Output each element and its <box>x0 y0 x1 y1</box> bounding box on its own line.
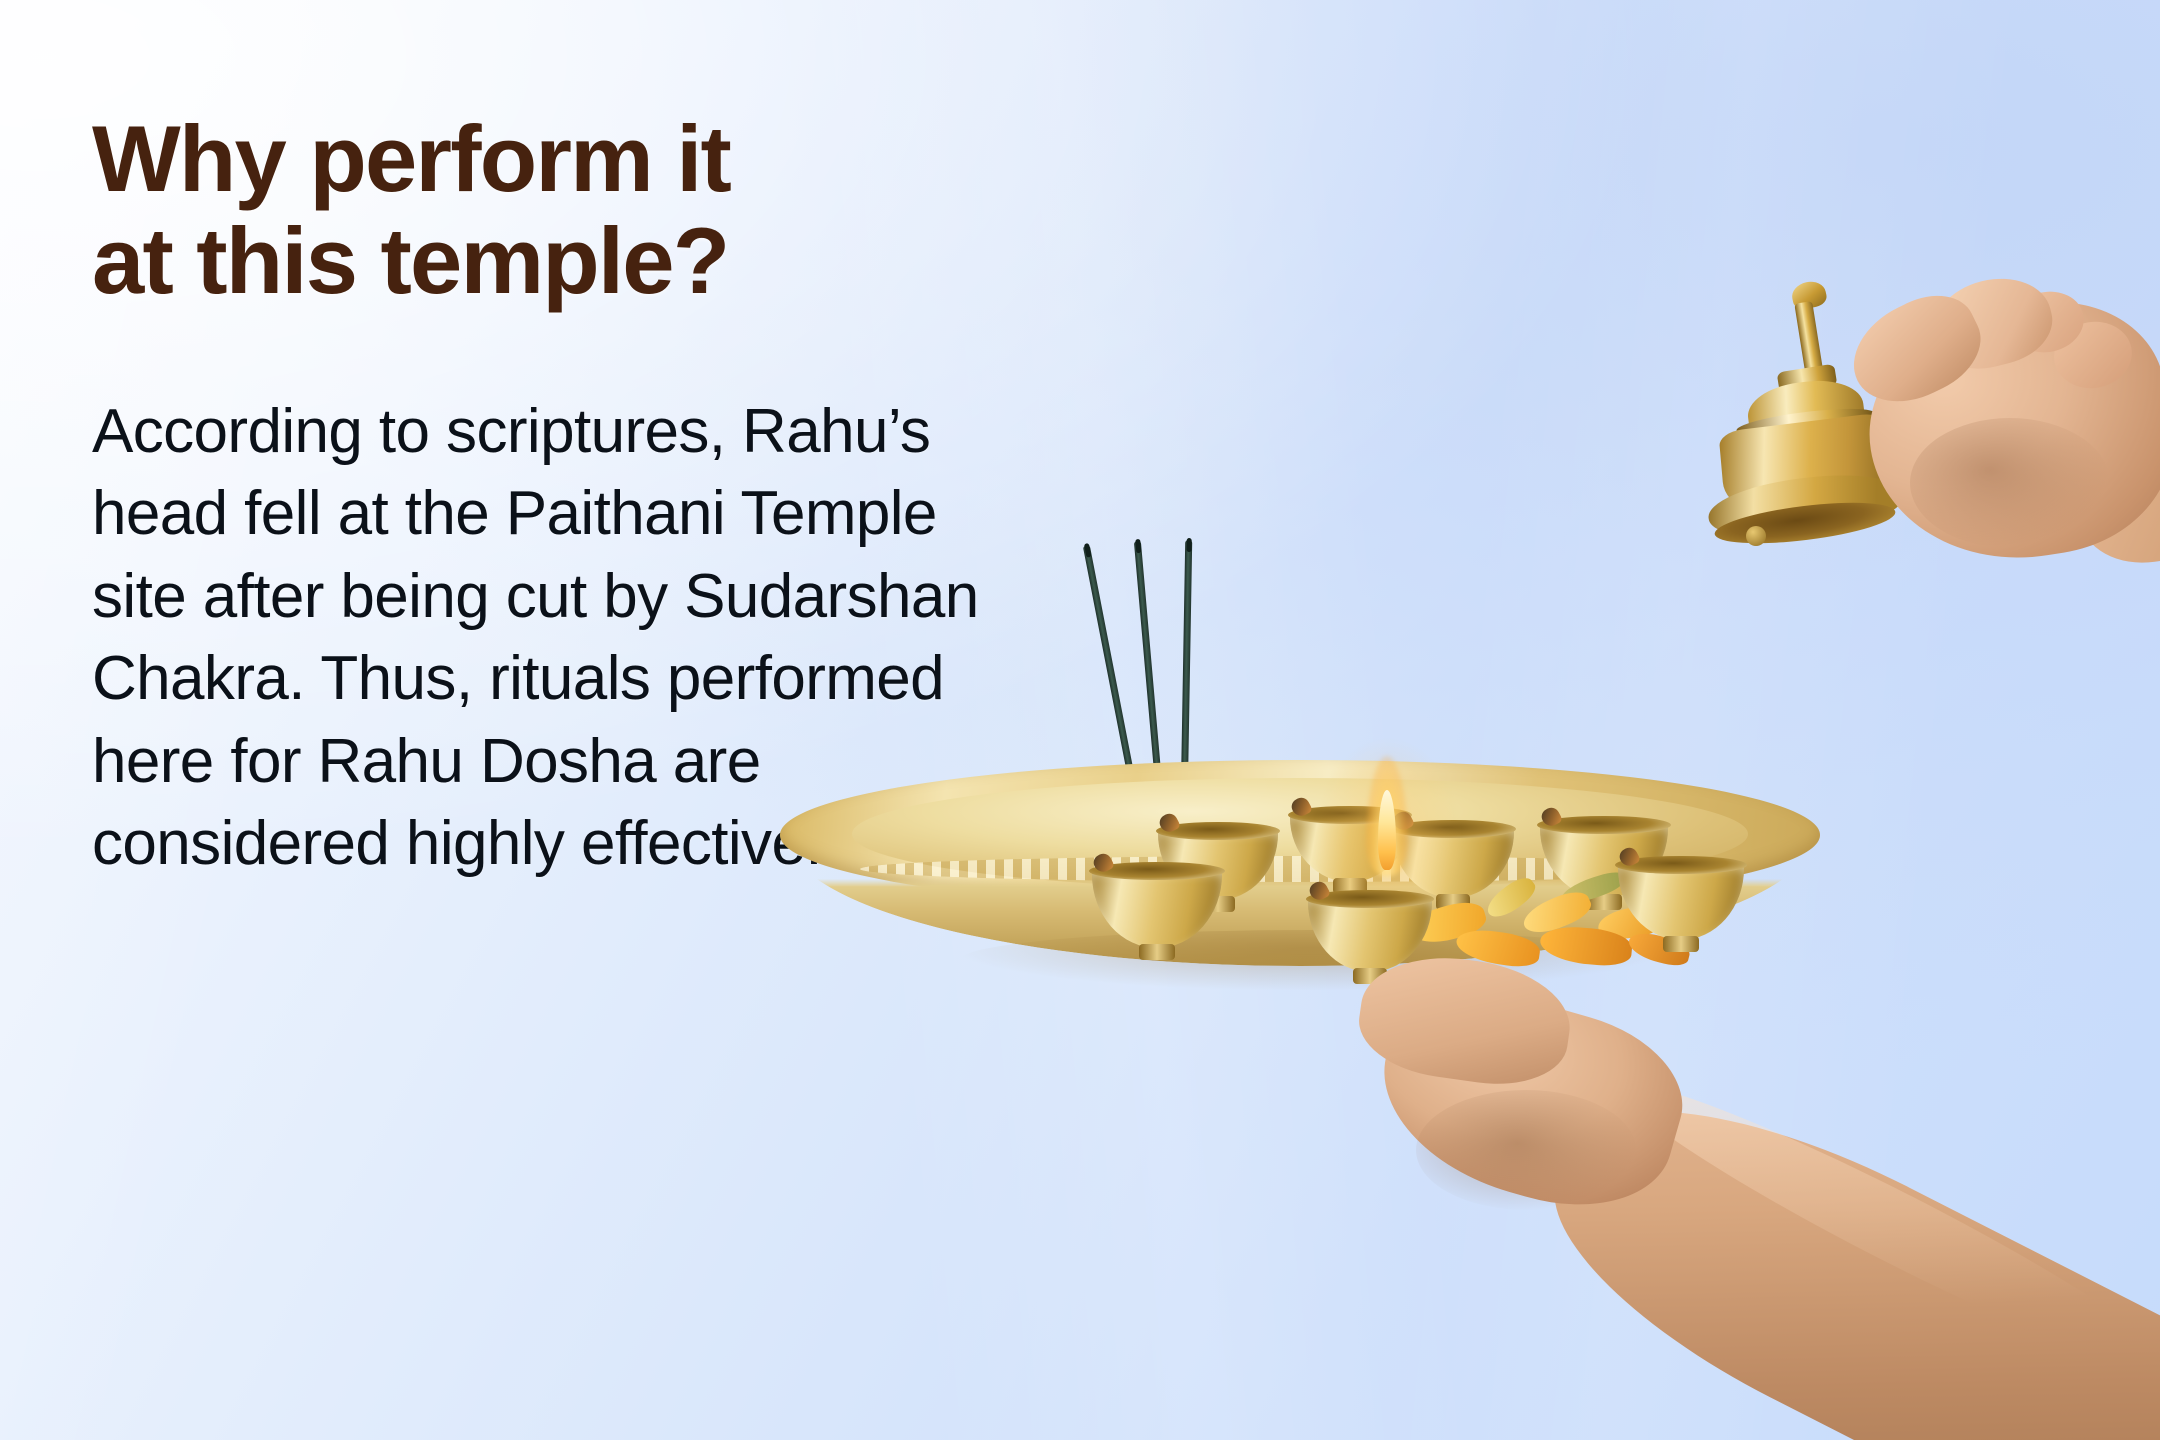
hand-holding-thali <box>1320 960 2160 1440</box>
puja-photo <box>1040 0 2160 1440</box>
slide-canvas: Why perform it at this temple? According… <box>0 0 2160 1440</box>
palm-shading <box>1416 1090 1636 1210</box>
hand-holding-bell <box>1840 268 2160 628</box>
bell-clapper <box>1746 526 1766 546</box>
page-title: Why perform it at this temple? <box>92 108 1052 313</box>
diya-lamp <box>1092 868 1222 948</box>
palm-shading <box>1910 418 2110 548</box>
diya-lamp <box>1618 862 1744 940</box>
lit-flame <box>1358 756 1418 886</box>
